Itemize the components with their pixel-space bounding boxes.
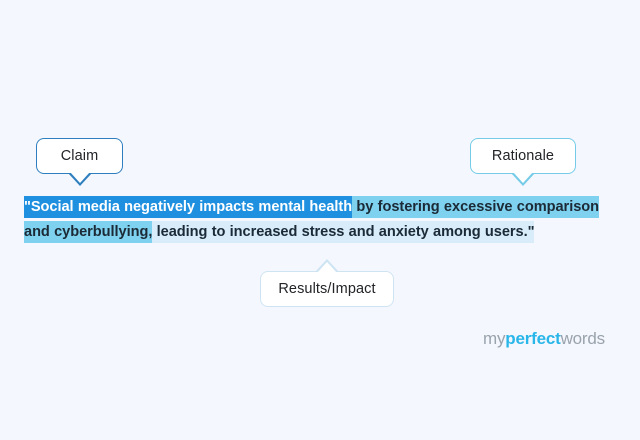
- thesis-statement: "Social media negatively impacts mental …: [24, 195, 604, 245]
- logo-text-my: my: [483, 329, 505, 348]
- callout-claim-label: Claim: [59, 149, 101, 164]
- callout-claim-pointer-fill: [70, 172, 90, 183]
- brand-logo: myperfectwords: [483, 329, 605, 349]
- callout-rationale[interactable]: Rationale: [470, 138, 576, 174]
- annotation-canvas: Claim Rationale "Social media negatively…: [0, 0, 640, 440]
- callout-claim[interactable]: Claim: [36, 138, 123, 174]
- callout-results-impact-label: Results/Impact: [276, 282, 377, 297]
- callout-results-impact[interactable]: Results/Impact: [260, 271, 394, 307]
- callout-results-impact-pointer-fill: [317, 262, 337, 273]
- callout-rationale-pointer-fill: [513, 172, 533, 183]
- thesis-segment-claim: "Social media negatively impacts mental …: [24, 196, 352, 218]
- logo-text-perfect: perfect: [505, 329, 560, 348]
- logo-text-words: words: [561, 329, 605, 348]
- thesis-segment-results: leading to increased stress and anxiety …: [152, 221, 534, 243]
- callout-rationale-label: Rationale: [490, 149, 556, 164]
